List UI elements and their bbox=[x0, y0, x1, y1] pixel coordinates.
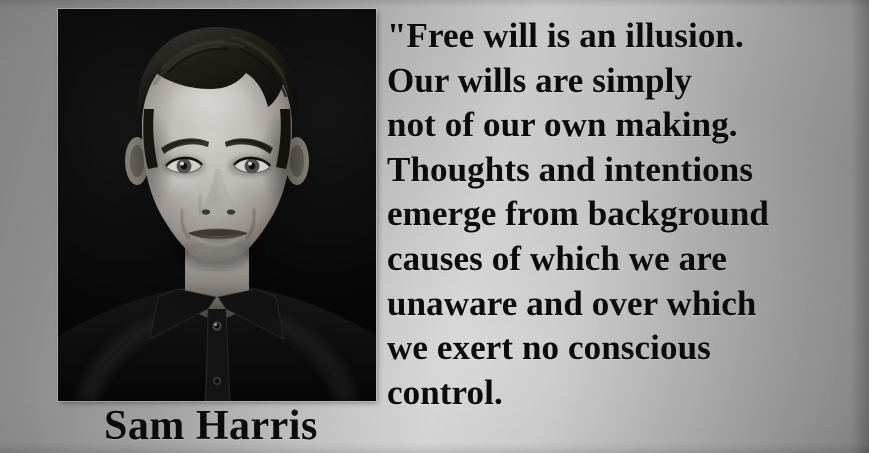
quote-line-8: we exert no conscious bbox=[387, 326, 857, 371]
portrait-photo bbox=[58, 9, 376, 401]
quote-card: "Free will is an illusion. Our wills are… bbox=[0, 0, 869, 453]
quote-line-7: unaware and over which bbox=[387, 282, 857, 327]
quote-text: "Free will is an illusion. Our wills are… bbox=[387, 14, 857, 415]
portrait-image bbox=[58, 9, 376, 401]
quote-line-6: causes of which we are bbox=[387, 237, 857, 282]
background-top-edge-shade bbox=[0, 0, 869, 8]
attribution-name: Sam Harris bbox=[104, 404, 318, 448]
quote-line-4: Thoughts and intentions bbox=[387, 148, 857, 193]
quote-line-2: Our wills are simply bbox=[387, 59, 857, 104]
quote-line-9: control. bbox=[387, 371, 857, 416]
quote-line-3: not of our own making. bbox=[387, 103, 857, 148]
quote-line-5: emerge from background bbox=[387, 192, 857, 237]
quote-line-1: "Free will is an illusion. bbox=[387, 14, 857, 59]
